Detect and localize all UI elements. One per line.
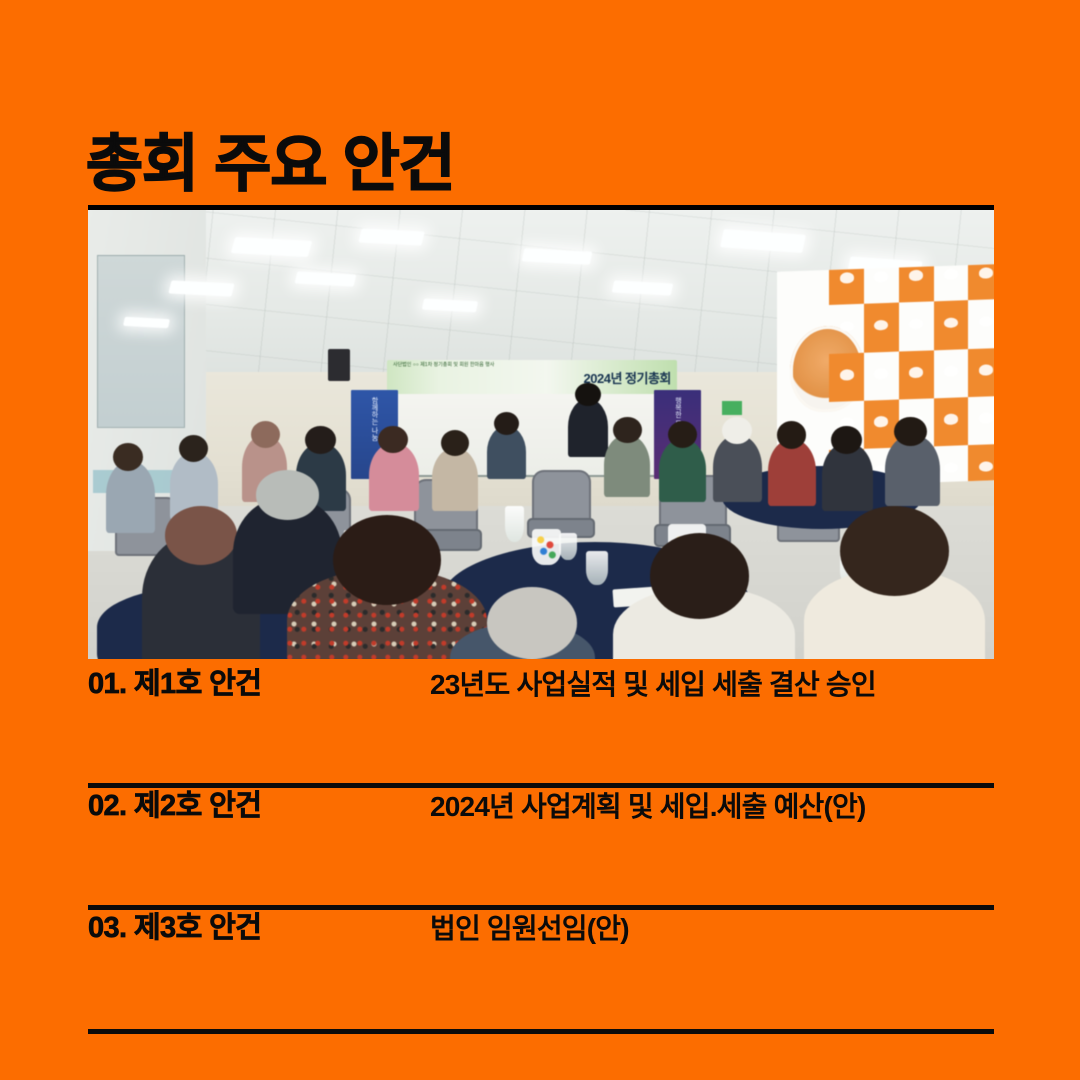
- drink-glass: [586, 551, 608, 585]
- attendee: [369, 443, 419, 510]
- ceiling-light: [123, 317, 170, 328]
- agenda-item-text: 23년도 사업실적 및 세입 세출 결산 승인: [430, 666, 994, 704]
- attendee-head: [613, 417, 641, 443]
- attendee-head: [650, 533, 750, 618]
- rollup-banner-left-text: 함께하는 나눔: [370, 397, 379, 441]
- attendee: [768, 439, 817, 506]
- attendee-head: [777, 421, 807, 449]
- attendee: [659, 439, 706, 502]
- agenda-list: 01. 제1호 안건 23년도 사업실적 및 세입 세출 결산 승인 02. 제…: [88, 666, 994, 1034]
- candy-jar: [532, 529, 561, 565]
- page-title: 총회 주요 안건: [86, 134, 455, 196]
- drink-glass: [559, 533, 577, 560]
- photo-scene: 사단법인 ○○ 제1차 정기총회 및 회원 한마음 행사 2024년 정기총회 …: [88, 210, 994, 659]
- attendee-head: [894, 417, 927, 447]
- attendee: [713, 435, 762, 502]
- attendee-head: [487, 587, 578, 659]
- attendee-head: [165, 506, 237, 564]
- agenda-row[interactable]: 03. 제3호 안건 법인 임원선임(안): [88, 910, 994, 1034]
- presenter-head: [575, 383, 600, 406]
- water-bottle: [505, 506, 524, 542]
- event-photo: 사단법인 ○○ 제1차 정기총회 및 회원 한마음 행사 2024년 정기총회 …: [88, 205, 994, 659]
- attendee-head: [333, 515, 442, 605]
- attendee-head: [840, 506, 949, 596]
- event-banner: 사단법인 ○○ 제1차 정기총회 및 회원 한마음 행사 2024년 정기총회: [387, 360, 677, 394]
- event-banner-title: 2024년 정기총회: [584, 368, 671, 387]
- attendee-head: [378, 426, 408, 454]
- wall-speaker: [328, 349, 350, 380]
- attendee-head: [831, 426, 862, 455]
- agenda-item-text: 법인 임원선임(안): [430, 910, 994, 948]
- agenda-row[interactable]: 02. 제2호 안건 2024년 사업계획 및 세입.세출 예산(안): [88, 788, 994, 910]
- attendee-head: [251, 421, 280, 448]
- attendee-head: [256, 470, 319, 519]
- attendee: [604, 435, 649, 498]
- agenda-row[interactable]: 01. 제1호 안건 23년도 사업실적 및 세입 세출 결산 승인: [88, 666, 994, 788]
- agenda-item-number: 03. 제3호 안건: [88, 910, 430, 948]
- presenter: [568, 399, 608, 457]
- attendee-head: [668, 421, 697, 448]
- agenda-item-number: 01. 제1호 안건: [88, 666, 430, 704]
- exit-sign: [722, 401, 742, 415]
- event-banner-subtitle: 사단법인 ○○ 제1차 정기총회 및 회원 한마음 행사: [393, 362, 494, 370]
- chair: [532, 470, 591, 524]
- attendee-head: [722, 417, 752, 445]
- agenda-item-number: 02. 제2호 안건: [88, 788, 430, 826]
- attendee: [106, 461, 155, 533]
- attendee: [432, 448, 477, 511]
- agenda-divider: [88, 1029, 994, 1034]
- poster-canvas: 총회 주요 안건 사단법인 ○○ 제: [0, 0, 1080, 1080]
- agenda-item-text: 2024년 사업계획 및 세입.세출 예산(안): [430, 788, 994, 826]
